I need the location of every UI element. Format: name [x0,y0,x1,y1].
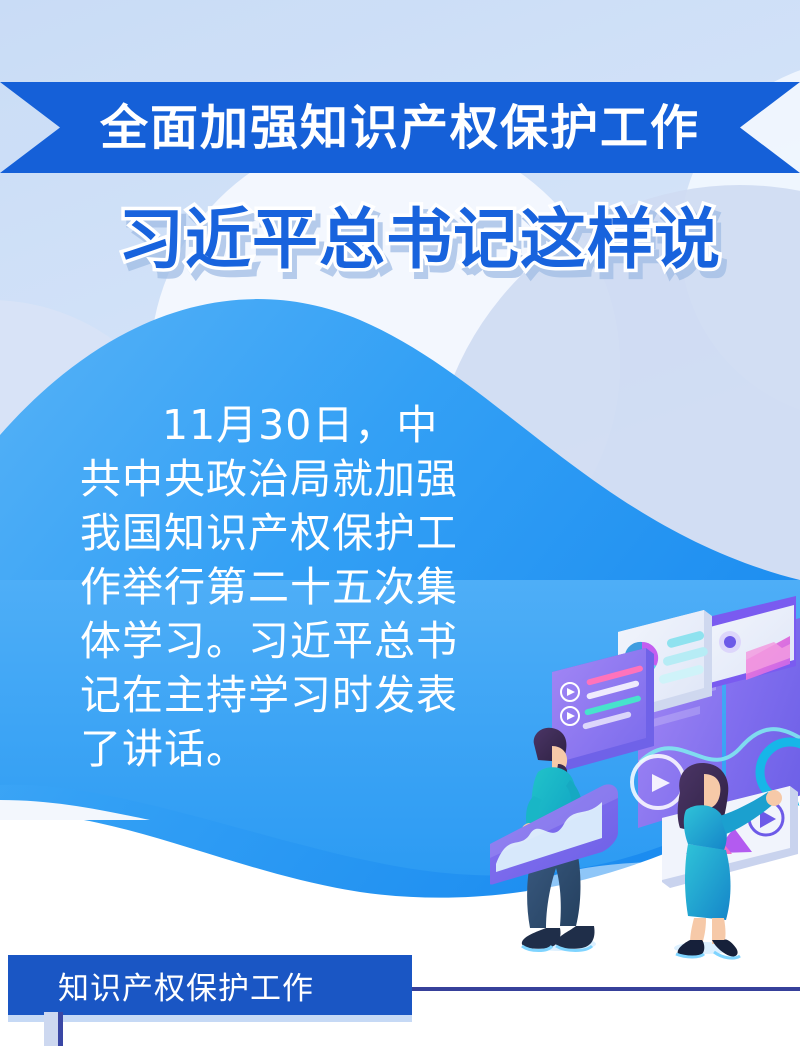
ribbon-title: 全面加强知识产权保护工作 [100,104,700,152]
body-paragraph: 11月30日，中共中央政治局就加强我国知识产权保护工作举行第二十五次集体学习。习… [80,398,470,776]
footer-horizontal-rule [410,987,800,991]
illustration-people-ui-panels [490,596,800,962]
headline-secondary: 习近平总书记这样说 [118,196,800,284]
footer-label-text: 知识产权保护工作 [58,963,314,1008]
headline-ribbon: 全面加强知识产权保护工作 [0,82,800,173]
poster-canvas: 全面加强知识产权保护工作 习近平总书记这样说 11月30日，中共中央政治局就加强… [0,0,800,1046]
footer-vertical-rule-ghost [44,1012,58,1046]
footer-label-box: 知识产权保护工作 [8,955,412,1015]
footer-vertical-rule [58,1012,63,1046]
